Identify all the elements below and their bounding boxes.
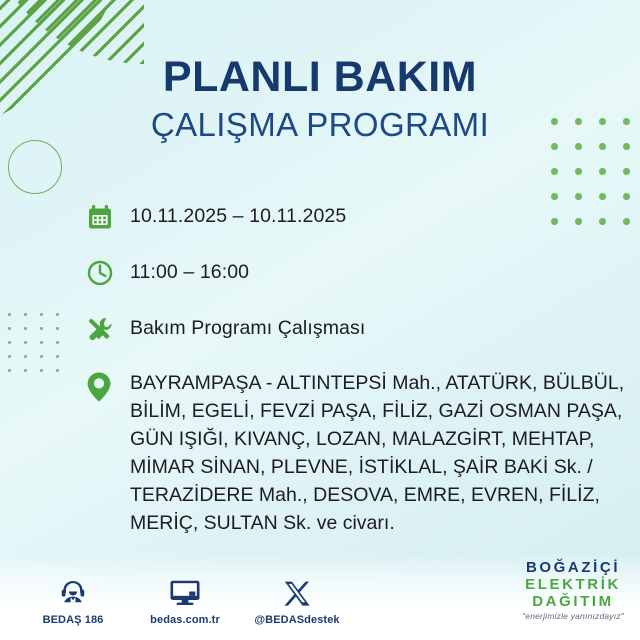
logo-line-dagitim: DAĞITIM	[522, 594, 624, 611]
headset-support-icon	[58, 574, 88, 608]
address-text: BAYRAMPAŞA - ALTINTEPSİ Mah., ATATÜRK, B…	[130, 368, 624, 537]
circle-outline-decoration	[8, 140, 62, 194]
dot-grid-decoration-left	[8, 313, 72, 383]
monitor-website-icon	[169, 574, 201, 608]
logo-line-elektrik: ELEKTRİK	[522, 577, 624, 594]
address-line: TERAZİDERE Mah., DESOVA, EMRE, EVREN, Fİ…	[130, 481, 624, 509]
date-row: 10.11.2025 – 10.11.2025	[86, 200, 614, 234]
address-line: BİLİM, EGELİ, FEVZİ PAŞA, FİLİZ, GAZİ OS…	[130, 397, 624, 425]
logo-line-bogazici: BOĞAZİÇİ	[522, 560, 624, 577]
planned-maintenance-poster: PLANLI BAKIM ÇALIŞMA PROGRAMI	[0, 0, 640, 640]
work-type-row: Bakım Programı Çalışması	[86, 312, 614, 346]
contact-x-social[interactable]: @BEDASdestek	[254, 574, 340, 626]
address-line: MERİÇ, SULTAN Sk. ve civarı.	[130, 509, 624, 537]
address-row: BAYRAMPAŞA - ALTINTEPSİ Mah., ATATÜRK, B…	[86, 368, 614, 537]
address-line: GÜN IŞIĞI, KIVANÇ, LOZAN, MALAZGİRT, MEH…	[130, 425, 624, 453]
page-title: PLANLI BAKIM	[0, 56, 640, 100]
bedas-logo: BOĞAZİÇİ ELEKTRİK DAĞITIM "enerjimizle y…	[522, 560, 624, 622]
x-twitter-icon	[283, 574, 311, 608]
tools-icon	[86, 312, 130, 346]
diagonal-stripes-decoration-secondary	[0, 0, 144, 64]
time-row: 11:00 – 16:00	[86, 256, 614, 290]
address-line: MİMAR SİNAN, PLEVNE, İSTİKLAL, ŞAİR BAKİ…	[130, 453, 624, 481]
date-range-text: 10.11.2025 – 10.11.2025	[130, 200, 346, 229]
maintenance-details: 10.11.2025 – 10.11.2025 11:00 – 16:00	[86, 200, 614, 537]
page-subtitle: ÇALIŞMA PROGRAMI	[0, 106, 640, 144]
poster-header: PLANLI BAKIM ÇALIŞMA PROGRAMI	[0, 56, 640, 144]
logo-tagline: "enerjimizle yanınızdayız"	[522, 612, 624, 622]
contact-website[interactable]: bedas.com.tr	[142, 574, 228, 626]
work-type-text: Bakım Programı Çalışması	[130, 312, 365, 341]
footer-contacts: BEDAŞ 186 bedas.com.tr @BEDASdestek	[30, 574, 340, 626]
contact-label: BEDAŞ 186	[43, 614, 104, 626]
calendar-icon	[86, 200, 130, 234]
clock-icon	[86, 256, 130, 290]
address-line: BAYRAMPAŞA - ALTINTEPSİ Mah., ATATÜRK, B…	[130, 369, 624, 397]
contact-label: bedas.com.tr	[150, 614, 220, 626]
time-range-text: 11:00 – 16:00	[130, 256, 249, 285]
contact-call-center[interactable]: BEDAŞ 186	[30, 574, 116, 626]
location-pin-icon	[86, 368, 130, 404]
contact-label: @BEDASdestek	[254, 614, 339, 626]
